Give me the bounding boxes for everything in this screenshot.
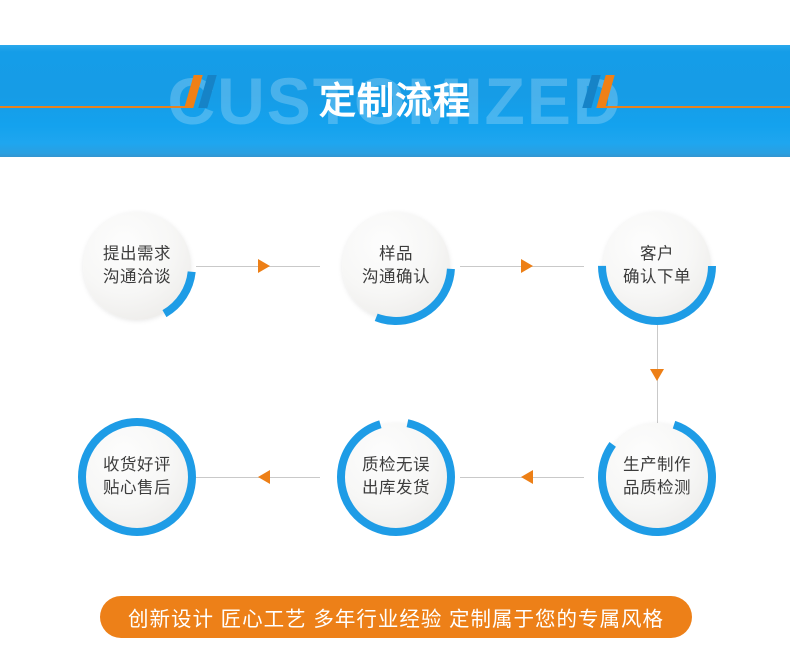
- footer-tagline-banner: 创新设计 匠心工艺 多年行业经验 定制属于您的专属风格: [100, 596, 692, 638]
- flow-step-2-line2: 沟通确认: [362, 266, 430, 289]
- flow-step-1-line2: 沟通洽谈: [103, 266, 171, 289]
- arrow-step3-step4: [650, 369, 664, 381]
- process-flow-diagram: 提出需求 沟通洽谈 样品 沟通确认 客户 确认下单 生产制作 品: [0, 157, 790, 587]
- flow-step-3[interactable]: 客户 确认下单: [598, 207, 716, 325]
- flow-step-6[interactable]: 收货好评 贴心售后: [78, 418, 196, 536]
- flow-step-3-line1: 客户: [640, 243, 674, 266]
- flow-step-4[interactable]: 生产制作 品质检测: [598, 418, 716, 536]
- page-title: 定制流程: [0, 83, 790, 120]
- flow-step-6-label: 收货好评 贴心售后: [78, 418, 196, 536]
- flow-step-2-label: 样品 沟通确认: [337, 207, 455, 325]
- flow-step-6-line2: 贴心售后: [103, 477, 171, 500]
- footer-tagline-text: 创新设计 匠心工艺 多年行业经验 定制属于您的专属风格: [128, 602, 664, 632]
- flow-step-1-line1: 提出需求: [103, 243, 171, 266]
- flow-step-4-label: 生产制作 品质检测: [598, 418, 716, 536]
- flow-step-4-line2: 品质检测: [623, 477, 691, 500]
- flow-step-2-line1: 样品: [379, 243, 413, 266]
- arrow-step2-step3: [521, 259, 533, 273]
- arrow-step5-step6: [258, 470, 270, 484]
- flow-step-1[interactable]: 提出需求 沟通洽谈: [78, 207, 196, 325]
- page-header-banner: CUSTOMIZED 定制流程: [0, 45, 790, 157]
- banner-inner: CUSTOMIZED 定制流程: [0, 45, 790, 157]
- flow-step-6-line1: 收货好评: [103, 454, 171, 477]
- flow-step-5[interactable]: 质检无误 出库发货: [337, 418, 455, 536]
- flow-step-5-label: 质检无误 出库发货: [337, 418, 455, 536]
- flow-step-2[interactable]: 样品 沟通确认: [337, 207, 455, 325]
- arrow-step4-step5: [521, 470, 533, 484]
- flow-step-3-label: 客户 确认下单: [598, 207, 716, 325]
- flow-step-5-line2: 出库发货: [362, 477, 430, 500]
- flow-step-4-line1: 生产制作: [623, 454, 691, 477]
- flow-step-5-line1: 质检无误: [362, 454, 430, 477]
- arrow-step1-step2: [258, 259, 270, 273]
- flow-step-1-label: 提出需求 沟通洽谈: [78, 207, 196, 325]
- flow-step-3-line2: 确认下单: [623, 266, 691, 289]
